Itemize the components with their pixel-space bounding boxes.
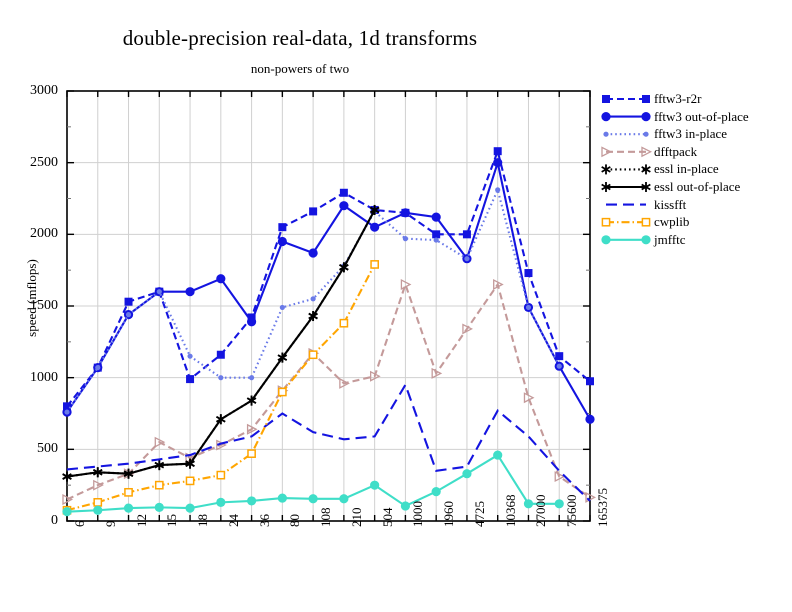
x-axis-tick-label: 504	[380, 508, 396, 528]
chart-figure: double-precision real-data, 1d transform…	[0, 0, 792, 612]
legend-item-label: cwplib	[654, 214, 689, 230]
x-axis-tick-label: 4725	[472, 501, 488, 527]
legend-item-label: fftw3 in-place	[654, 126, 727, 142]
x-axis-tick-label: 10368	[503, 495, 519, 528]
x-axis-tick-label: 36	[257, 514, 273, 527]
x-axis-tick-label: 1000	[410, 501, 426, 527]
legend-item-label: kissfft	[654, 197, 686, 213]
legend-item-label: jmfftc	[654, 232, 686, 248]
x-axis-tick-label: 108	[318, 508, 334, 528]
x-axis-tick-label: 18	[195, 514, 211, 527]
legend-samples	[601, 95, 650, 244]
legend-item-label: essl in-place	[654, 161, 719, 177]
x-axis-tick-label: 24	[226, 514, 242, 527]
y-axis-tick-label: 2000	[12, 229, 58, 239]
y-axis-tick-label: 3000	[12, 86, 58, 96]
x-axis-tick-label: 9	[103, 521, 119, 528]
x-axis-tick-label: 15	[164, 514, 180, 527]
y-axis-tick-label: 500	[12, 444, 58, 454]
legend-item-label: dfftpack	[654, 144, 697, 160]
y-axis-tick-label: 2500	[12, 158, 58, 168]
y-axis-tick-label: 1500	[12, 301, 58, 311]
legend-item-label: fftw3-r2r	[654, 91, 701, 107]
series-lines	[62, 147, 594, 516]
y-axis-tick-label: 1000	[12, 373, 58, 383]
x-axis-tick-label: 80	[287, 514, 303, 527]
x-axis-tick-label: 12	[134, 514, 150, 527]
legend-item-label: essl out-of-place	[654, 179, 740, 195]
legend-item-label: fftw3 out-of-place	[654, 109, 749, 125]
x-axis-tick-label: 210	[349, 508, 365, 528]
x-axis-tick-label: 165375	[595, 488, 611, 527]
x-axis-tick-label: 27000	[533, 495, 549, 528]
x-axis-tick-label: 75600	[564, 495, 580, 528]
x-axis-tick-label: 1960	[441, 501, 457, 527]
y-axis-tick-label: 0	[12, 516, 58, 526]
x-axis-tick-label: 6	[72, 521, 88, 528]
